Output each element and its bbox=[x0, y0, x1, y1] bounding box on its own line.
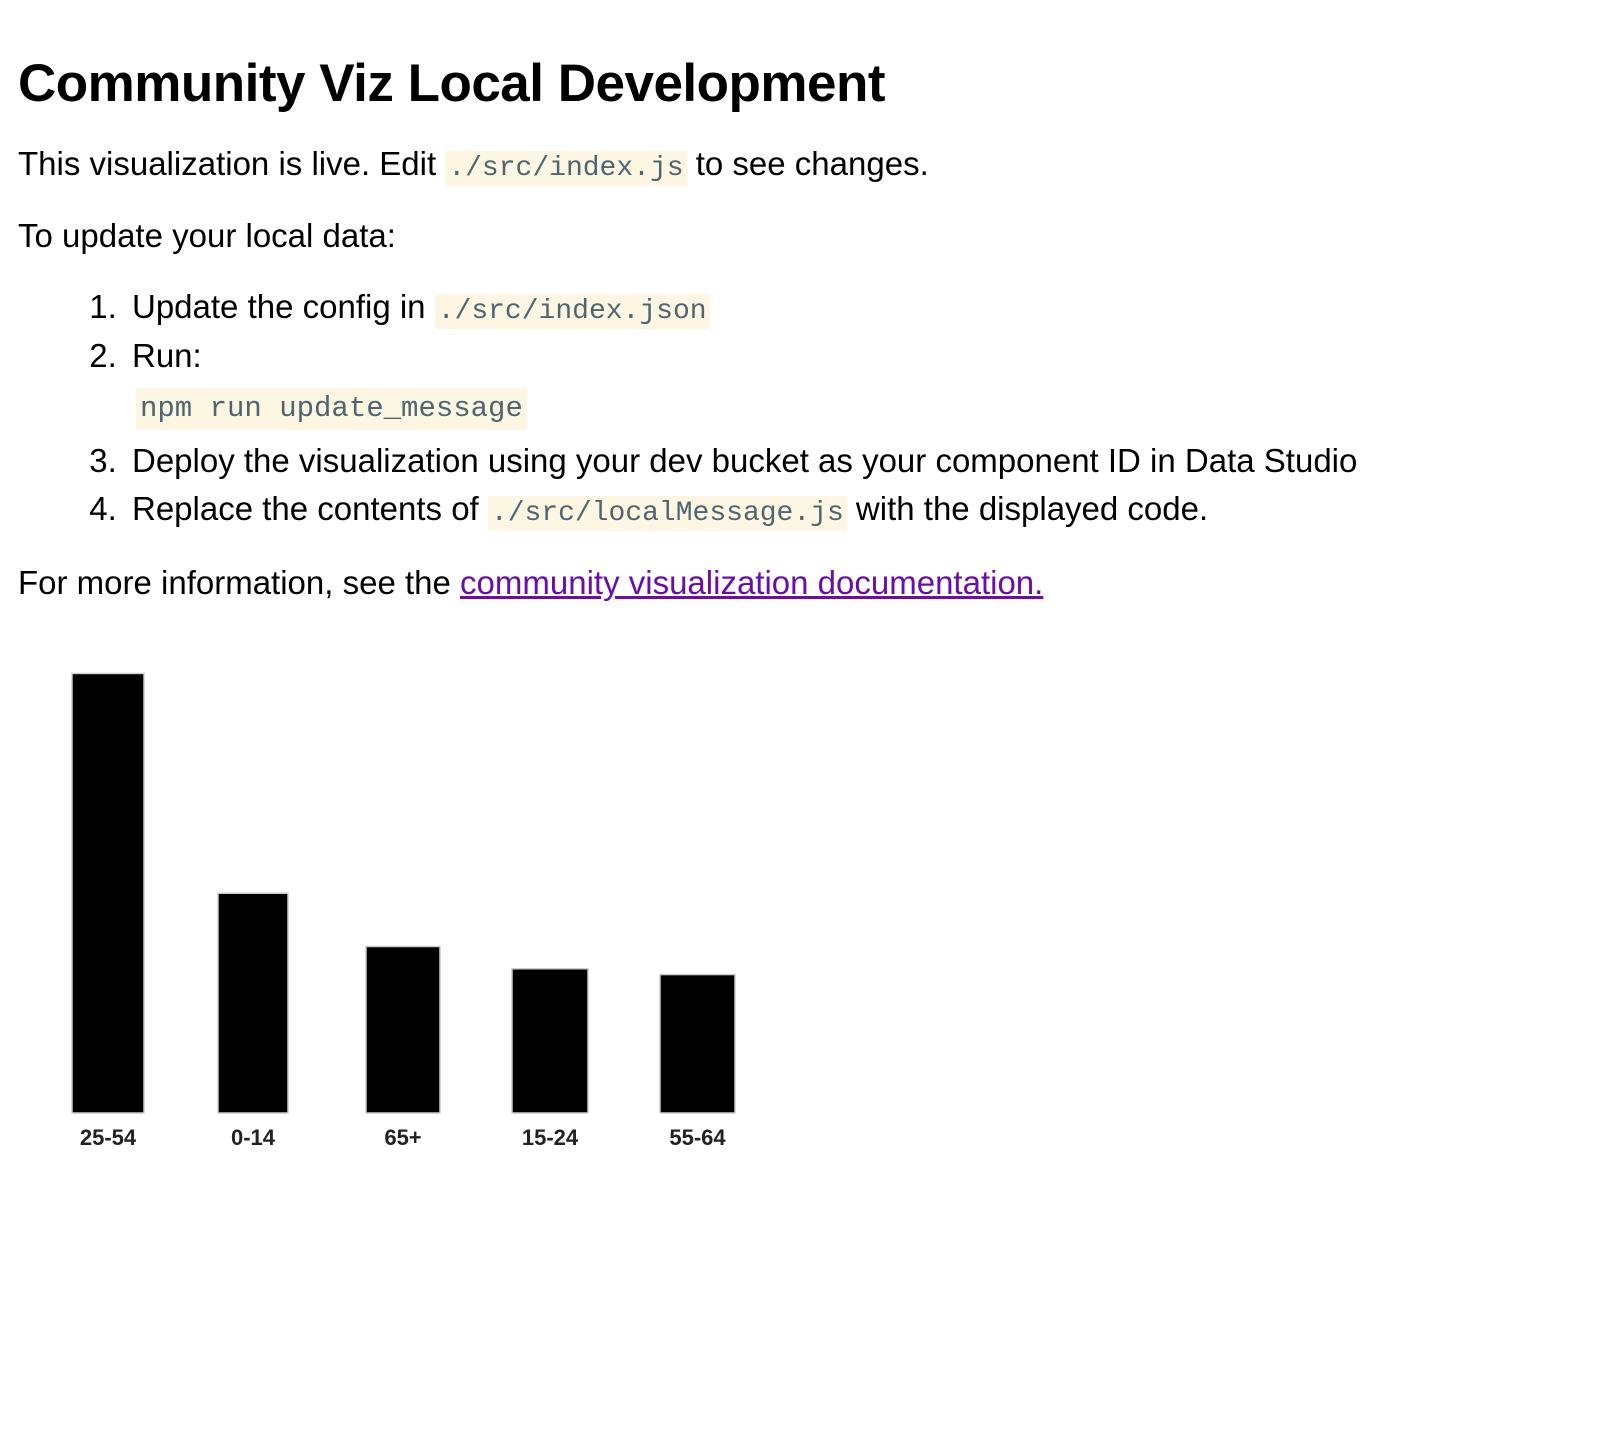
more-info-prefix: For more information, see the bbox=[18, 564, 460, 601]
bar-0-14[interactable] bbox=[218, 894, 288, 1114]
bar-65+[interactable] bbox=[366, 947, 440, 1114]
step-4-text: Replace the contents of bbox=[132, 490, 488, 527]
npm-command-code-block: npm run update_message bbox=[136, 388, 527, 430]
intro-prefix-text: This visualization is live. Edit bbox=[18, 145, 445, 182]
bar-label-25-54: 25-54 bbox=[80, 1125, 137, 1150]
step-2-text: Run: bbox=[132, 337, 202, 374]
update-heading: To update your local data: bbox=[18, 215, 1582, 257]
step-1-text: Update the config in bbox=[132, 288, 435, 325]
index-js-code: ./src/index.js bbox=[445, 151, 686, 186]
bar-label-0-14: 0-14 bbox=[231, 1125, 276, 1150]
bar-chart: 25-540-1465+15-2455-64 bbox=[54, 658, 814, 1178]
community-visualization-documentation-link[interactable]: community visualization documentation. bbox=[460, 564, 1043, 601]
bar-55-64[interactable] bbox=[660, 975, 735, 1113]
page-title: Community Viz Local Development bbox=[18, 54, 1582, 113]
bar-label-15-24: 15-24 bbox=[522, 1125, 579, 1150]
list-item: Update the config in ./src/index.json bbox=[126, 285, 1582, 331]
bar-label-55-64: 55-64 bbox=[669, 1125, 726, 1150]
steps-list: Update the config in ./src/index.json Ru… bbox=[18, 285, 1582, 532]
list-item: Run:npm run update_message bbox=[126, 334, 1582, 436]
more-info-paragraph: For more information, see the community … bbox=[18, 562, 1582, 604]
step-3-text: Deploy the visualization using your dev … bbox=[132, 442, 1357, 479]
list-item: Replace the contents of ./src/localMessa… bbox=[126, 487, 1582, 533]
list-item: Deploy the visualization using your dev … bbox=[126, 439, 1582, 483]
local-message-js-code: ./src/localMessage.js bbox=[488, 496, 847, 531]
bar-25-54[interactable] bbox=[72, 674, 144, 1114]
bar-15-24[interactable] bbox=[512, 969, 588, 1113]
intro-suffix-text: to see changes. bbox=[687, 145, 929, 182]
index-json-code: ./src/index.json bbox=[435, 294, 710, 329]
step-4-suffix: with the displayed code. bbox=[847, 490, 1208, 527]
viz-dev-page: Community Viz Local Development This vis… bbox=[0, 0, 1600, 1178]
bar-label-65+: 65+ bbox=[384, 1125, 421, 1150]
bar-chart-container: 25-540-1465+15-2455-64 bbox=[18, 658, 1582, 1178]
intro-paragraph: This visualization is live. Edit ./src/i… bbox=[18, 143, 1582, 187]
